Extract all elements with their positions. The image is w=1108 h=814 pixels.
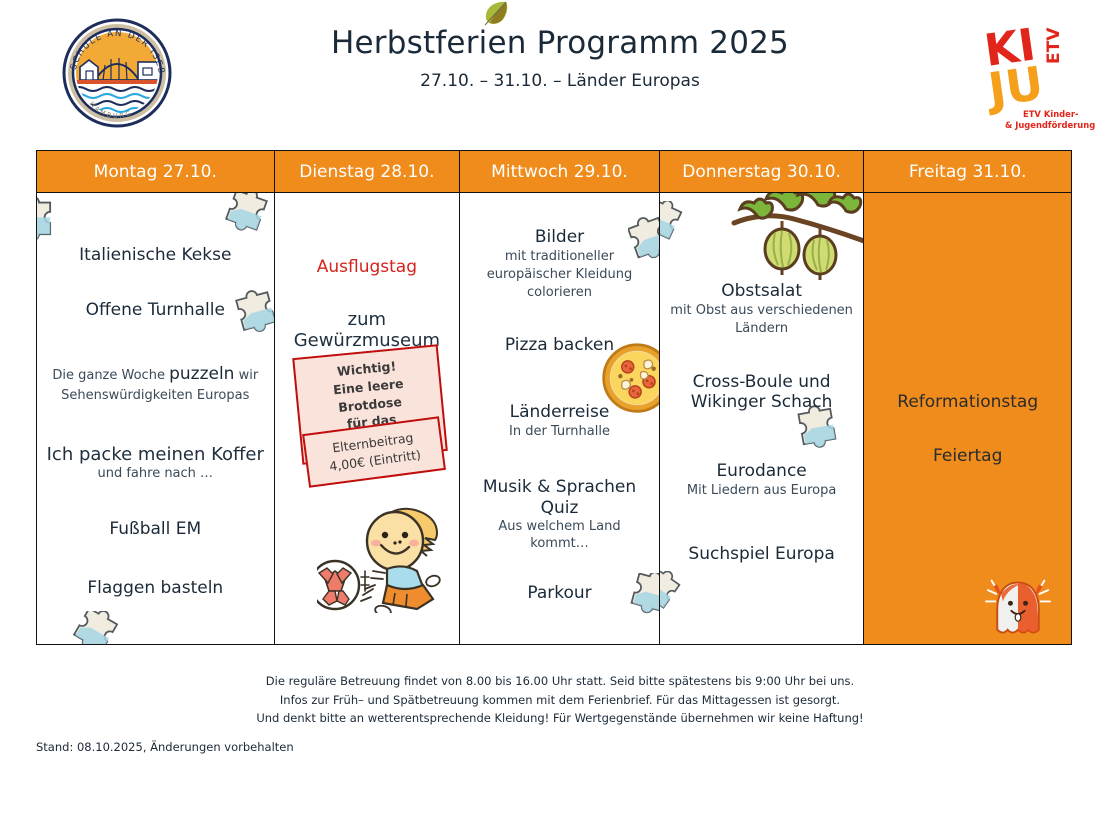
page-header: SCHULE AN DER ISEBEK HAMBURG Herbstferie…	[0, 0, 1108, 140]
boy-playing-football-icon	[317, 493, 460, 617]
activity-text: wir	[234, 368, 258, 383]
activity-title: Cross-Boule und	[668, 372, 856, 393]
day-header-mittwoch: Mittwoch 29.10.	[460, 151, 659, 193]
activity-title: Parkour	[468, 583, 651, 604]
puzzle-piece-icon	[71, 611, 125, 644]
footer-info: Die reguläre Betreuung findet von 8.00 b…	[180, 672, 940, 728]
activity-subtitle: und fahre nach …	[45, 466, 266, 483]
activity-title: Quiz	[468, 498, 651, 519]
day-column-montag: Montag 27.10.	[37, 151, 275, 644]
gooseberry-branch-icon	[720, 193, 864, 285]
autumn-leaf-icon	[481, 0, 511, 29]
activity-title: Italienische Kekse	[45, 245, 266, 266]
day-header-freitag: Freitag 31.10.	[864, 151, 1071, 193]
activity-emphasis: puzzeln	[169, 364, 234, 384]
week-program-table: Montag 27.10.	[36, 150, 1072, 645]
activity-subtitle: mit traditioneller	[468, 249, 651, 266]
puzzle-piece-icon	[660, 571, 686, 621]
activity-title: Flaggen basteln	[45, 578, 266, 599]
day-column-donnerstag: Donnerstag 30.10.	[660, 151, 865, 644]
day-body-donnerstag: Obstsalat mit Obst aus verschiedenen Län…	[660, 193, 864, 644]
activity-title: Fußball EM	[45, 519, 266, 540]
holiday-title: Feiertag	[872, 446, 1063, 466]
activity-title: Suchspiel Europa	[668, 544, 856, 565]
day-column-freitag: Freitag 31.10. Reformationstag Feiertag	[864, 151, 1071, 644]
version-stamp: Stand: 08.10.2025, Änderungen vorbehalte…	[36, 740, 294, 754]
day-column-dienstag: Dienstag 28.10. Ausflugstag zum Gewürzmu…	[275, 151, 461, 644]
day-body-dienstag: Ausflugstag zum Gewürzmuseum Wichtig! Ei…	[275, 193, 460, 644]
footer-line: Und denkt bitte an wetterentsprechende K…	[180, 709, 940, 728]
activity-subtitle: europäischer Kleidung	[468, 267, 651, 284]
holiday-title: Reformationstag	[872, 392, 1063, 412]
activity-title: Musik & Sprachen	[468, 477, 651, 498]
page-title-text: Herbstferien Programm 2025	[331, 25, 789, 61]
activity-subtitle: colorieren	[468, 285, 651, 302]
svg-text:ETV: ETV	[1044, 27, 1064, 64]
footer-line: Infos zur Früh– und Spätbetreuung kommen…	[180, 691, 940, 710]
day-header-dienstag: Dienstag 28.10.	[275, 151, 460, 193]
title-block: Herbstferien Programm 2025 27.10. – 31.1…	[180, 26, 940, 91]
day-body-mittwoch: Bilder mit traditioneller europäischer K…	[460, 193, 659, 644]
puzzle-piece-icon	[660, 201, 690, 253]
activity-title: Ausflugstag	[283, 257, 452, 277]
activity-title: Länderreise	[468, 402, 651, 423]
activity-subtitle: In der Turnhalle	[468, 424, 651, 441]
svg-text:& Jugendförderung: & Jugendförderung	[1005, 120, 1095, 130]
day-header-donnerstag: Donnerstag 30.10.	[660, 151, 864, 193]
activity-title: Offene Turnhalle	[45, 300, 266, 321]
kiju-etv-logo: KI JU ETV ETV Kinder- & Jugendförderung	[975, 14, 1095, 132]
activity-title: Bilder	[468, 227, 651, 248]
activity-title: Ich packe meinen Koffer	[45, 444, 266, 465]
program-flyer: SCHULE AN DER ISEBEK HAMBURG Herbstferie…	[0, 0, 1108, 814]
day-header-montag: Montag 27.10.	[37, 151, 274, 193]
page-title: Herbstferien Programm 2025	[331, 26, 789, 60]
activity-subtitle: Mit Liedern aus Europa	[668, 483, 856, 500]
happy-ghost-character-icon	[980, 575, 1056, 644]
activity-title: Eurodance	[668, 461, 856, 482]
page-subtitle: 27.10. – 31.10. – Länder Europas	[180, 71, 940, 91]
activity-subtext: Sehenswürdigkeiten Europas	[45, 387, 266, 406]
puzzle-piece-icon	[223, 193, 274, 245]
svg-text:ETV Kinder-: ETV Kinder-	[1023, 109, 1079, 119]
activity-text: Die ganze Woche	[52, 368, 169, 383]
day-column-mittwoch: Mittwoch 29.10.	[460, 151, 660, 644]
day-body-montag: Italienische Kekse Offene Turnhalle Die …	[37, 193, 274, 644]
activity-subtitle: Ländern	[668, 321, 856, 338]
day-body-freitag: Reformationstag Feiertag	[864, 193, 1071, 644]
schule-an-der-isebek-logo: SCHULE AN DER ISEBEK HAMBURG	[62, 18, 172, 128]
footer-line: Die reguläre Betreuung findet von 8.00 b…	[180, 672, 940, 691]
activity-title: Pizza backen	[468, 335, 651, 356]
activity-title: Obstsalat	[668, 281, 856, 302]
activity-subtitle: mit Obst aus verschiedenen	[668, 303, 856, 320]
puzzle-piece-icon	[796, 405, 850, 459]
activity-subtitle: Aus welchem Land kommt…	[468, 519, 651, 553]
activity-title: zum	[283, 309, 452, 330]
activity-title: Wikinger Schach	[668, 392, 856, 413]
